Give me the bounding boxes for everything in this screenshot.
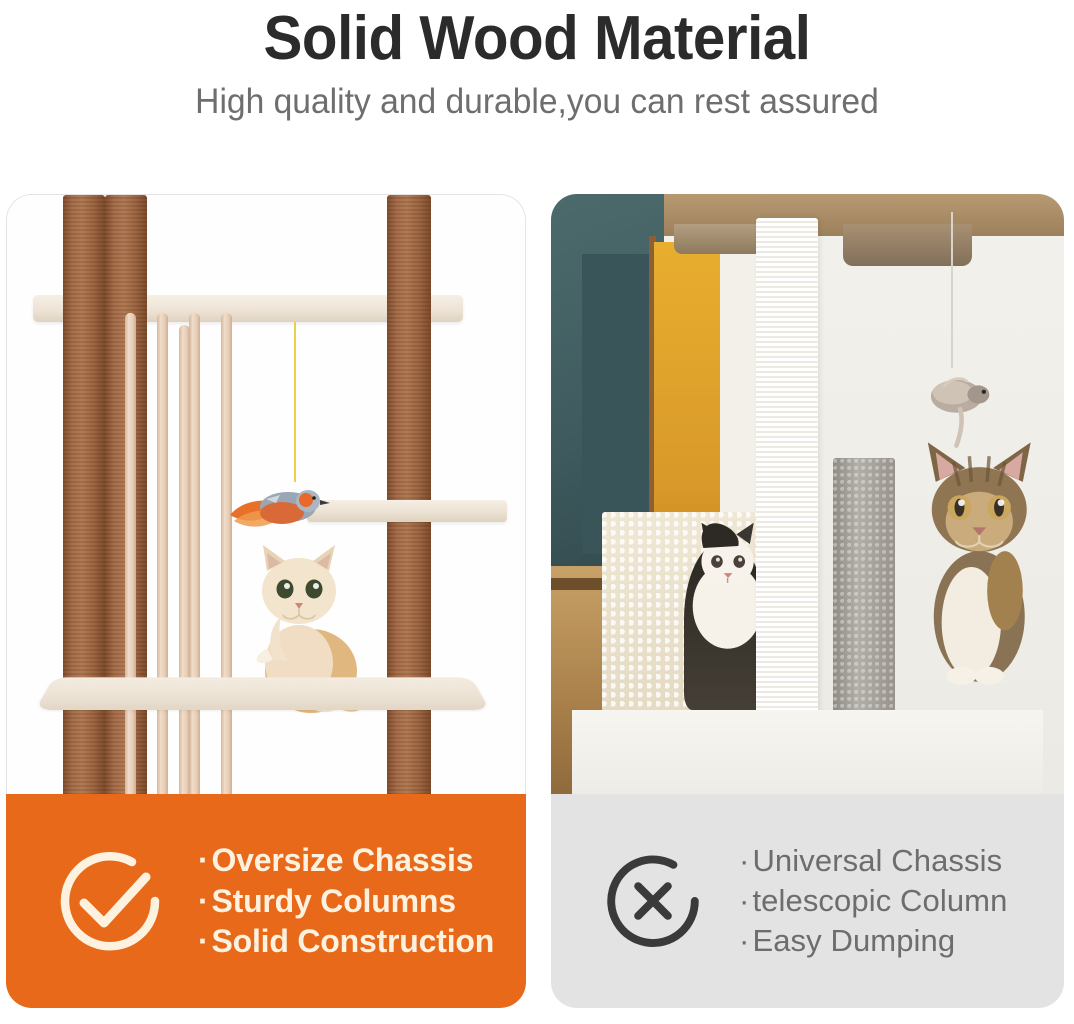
toy-string	[294, 322, 296, 482]
wood-dowel	[125, 313, 136, 794]
feature-panel-bad: ·Universal Chassis ·telescopic Column ·E…	[551, 794, 1064, 1008]
feature-list-bad: ·Universal Chassis ·telescopic Column ·E…	[739, 841, 1007, 960]
header: Solid Wood Material High quality and dur…	[0, 0, 1074, 122]
feature-item: ·Easy Dumping	[739, 921, 1007, 961]
home-room-illustration	[551, 194, 1064, 794]
wood-cat-tree-illustration	[7, 195, 525, 794]
card-good: ·Oversize Chassis ·Sturdy Columns ·Solid…	[6, 194, 526, 1008]
page-title: Solid Wood Material	[32, 6, 1042, 71]
wood-dowel	[189, 313, 200, 794]
toy-hanging-string	[951, 212, 953, 368]
doorway-dark	[582, 254, 654, 554]
feature-list-good: ·Oversize Chassis ·Sturdy Columns ·Solid…	[198, 840, 494, 963]
bullet-marker: ·	[739, 923, 749, 958]
comparison-cards: ·Oversize Chassis ·Sturdy Columns ·Solid…	[0, 194, 1074, 1018]
bullet-marker: ·	[739, 883, 749, 918]
cat-photo-tabby	[910, 422, 1049, 710]
feature-item: ·Oversize Chassis	[198, 840, 494, 881]
wood-dowel	[157, 313, 168, 794]
feature-label: Solid Construction	[211, 923, 494, 959]
feature-label: telescopic Column	[752, 883, 1007, 918]
feature-item: ·Solid Construction	[198, 921, 494, 962]
mid-shelf	[307, 500, 507, 522]
white-platform-floor	[572, 710, 1044, 794]
check-circle-icon	[54, 845, 166, 957]
x-circle-icon	[601, 849, 705, 953]
white-sisal-post	[756, 218, 818, 764]
feature-label: Easy Dumping	[752, 923, 955, 958]
feature-label: Universal Chassis	[752, 843, 1002, 878]
bullet-marker: ·	[198, 883, 208, 919]
card-bad: ·Universal Chassis ·telescopic Column ·E…	[551, 194, 1064, 1008]
wood-dowel	[179, 325, 190, 794]
feature-item: ·Universal Chassis	[739, 841, 1007, 881]
product-photo-carpet-cat-tree	[551, 194, 1064, 794]
feature-panel-good: ·Oversize Chassis ·Sturdy Columns ·Solid…	[6, 794, 526, 1008]
wood-dowel	[221, 313, 232, 794]
oversize-chassis-base	[35, 677, 490, 710]
feature-item: ·Sturdy Columns	[198, 881, 494, 922]
feature-item: ·telescopic Column	[739, 881, 1007, 921]
bullet-marker: ·	[198, 923, 208, 959]
bird-toy-icon	[222, 477, 332, 539]
page-subtitle: High quality and durable,you can rest as…	[21, 83, 1052, 122]
product-photo-wood-cat-tree	[6, 194, 526, 794]
bullet-marker: ·	[739, 843, 749, 878]
feature-label: Sturdy Columns	[211, 883, 455, 919]
bullet-marker: ·	[198, 842, 208, 878]
feature-label: Oversize Chassis	[211, 842, 473, 878]
